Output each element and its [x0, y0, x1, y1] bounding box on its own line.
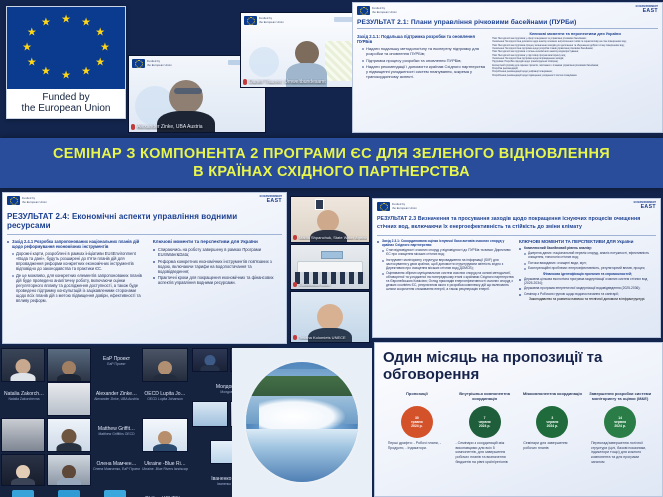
video-feed: [48, 419, 90, 451]
slide-right-heading: КЛЮЧОВІ МОМЕНТИ ТА ПЕРСПЕКТИВИ ДЛЯ Украї…: [519, 239, 656, 244]
timeline-step-4: Завершення розробки системи моніторингу …: [589, 392, 651, 464]
timeline-title: Один місяць на пропозиції та обговорення: [383, 349, 654, 383]
participant-name-1: Natalia Zakorch… Natalia Zakorchevna: [2, 391, 46, 401]
seminar-title-banner: СЕМІНАР З КОМПОНЕНТА 2 ПРОГРАМИ ЄС ДЛЯ З…: [0, 138, 663, 188]
eu-logo-caption-line1: Funded by: [9, 92, 123, 103]
timeline-circle-3: 3 червня 2024 р.: [536, 406, 568, 438]
slide-eu-label: Funded by the European Union: [377, 202, 656, 211]
avatar-tile-2[interactable]: Г: [58, 490, 80, 497]
banner-line-2: В КРАЇНАХ СХІДНОГО ПАРТНЕРСТВА: [193, 164, 470, 180]
slide-left-heading: Захід 2.1.1: Подальша підтримка розробки…: [357, 34, 487, 44]
slide-result-2-3: Funded by the European Union EU4ENVIRONM…: [372, 198, 661, 338]
participant-name-4: OECD Lupita Jo… OECD Lupita Johanson: [142, 391, 188, 401]
video-nameplate: Conference room: [293, 282, 367, 287]
slide-timeline: Один місяць на пропозиції та обговорення…: [374, 342, 663, 497]
eyeglasses: [174, 88, 202, 94]
avatar-tile-3[interactable]: Є: [104, 490, 126, 497]
video-nameplate: Daniel Trauner, Umweltbundesamt: [243, 79, 365, 85]
wall-picture: [315, 199, 324, 210]
video-nameplate: Tetiana Kolomiets UNECE: [293, 335, 367, 340]
timeline-step-3: Міжкомпонентна координація 3 червня 2024…: [521, 392, 583, 450]
eu-flag: ★ ★ ★ ★ ★ ★ ★ ★ ★ ★ ★ ★: [7, 7, 125, 89]
participant-name-5: Matthew Griffit… Matthew Griffiths OECD: [93, 426, 140, 436]
slide-left-bullets: Дорожні карти, розроблені в рамках ініці…: [7, 251, 147, 303]
slide-right-lines: Нові: Методологічна підтримка у сфері пл…: [492, 38, 658, 78]
video-feed: [193, 349, 227, 371]
slide-left-bullets: Стан відповідності очисних споруд у відп…: [377, 248, 514, 291]
timeline-steps: Пропозиції 30 травня 2024 р. Перші драфт…: [383, 392, 654, 464]
slide-right-heading: Ключові моменти та перспективи для Украї…: [492, 31, 658, 36]
video-feed: [143, 349, 187, 381]
slide-title: РЕЗУЛЬТАТ 2.3 Визначення та просування з…: [377, 216, 656, 232]
video-feed: [2, 419, 44, 451]
slide-eu-label: Funded by the European Union: [244, 16, 284, 25]
eu4environment-east-logo: EU4ENVIRONMENT EAST: [260, 196, 282, 204]
video-feed: [193, 402, 227, 426]
video-feed: Funded by the European Union: [241, 13, 367, 87]
slide-right-bullets: Комплексний басейновий рівень аналізу: Д…: [519, 246, 656, 302]
avatar-tile-1[interactable]: Е: [12, 490, 34, 497]
participant-tile-9[interactable]: [47, 454, 91, 486]
participant-tile-12[interactable]: [192, 401, 228, 427]
eu4environment-east-logo: EU4ENVIRONMENT EAST: [634, 202, 656, 210]
timeline-circle-1: 30 травня 2024 р.: [401, 406, 433, 438]
participant-tile-2[interactable]: [47, 348, 91, 382]
timeline-step-2: Внутрішньо компонентна координація 7 чер…: [453, 392, 515, 464]
eu-logo-caption: Funded by the European Union: [7, 89, 125, 118]
mic-muted-icon: [293, 235, 297, 240]
slide-result-2-4: Funded by the European Union EU4ENVIRONM…: [2, 192, 287, 344]
video-nameplate: Mariia Shpanchuk, State Water Agency: [293, 235, 367, 240]
mic-muted-icon: [131, 124, 135, 130]
eu4environment-east-logo: EU4ENVIRONMENT EAST: [636, 6, 658, 14]
video-tile-conference-room[interactable]: Conference room: [290, 244, 370, 290]
webinar-montage-screenshot: ★ ★ ★ ★ ★ ★ ★ ★ ★ ★ ★ ★ Funded by the Eu…: [0, 0, 663, 497]
slide-eu-label: Funded by the European Union: [7, 196, 282, 205]
eu-logo-caption-line2: the European Union: [9, 103, 123, 114]
slide-eu-label: Funded by the European Union: [132, 59, 172, 68]
decor-circle: [249, 47, 279, 77]
timeline-step-1: Пропозиції 30 травня 2024 р. Перші драфт…: [386, 392, 448, 450]
projector-screen: [321, 251, 343, 259]
slide-left-bullets: Надати подальшу методологічну та експерт…: [357, 46, 487, 79]
video-tile-tetiana-kolomiets[interactable]: Tetiana Kolomiets UNECE: [290, 291, 370, 343]
participant-name-7: Олена Мамчен… Олена Мамченко, EaP Проект: [93, 461, 140, 471]
participant-grid: EaP Проект EaP Проект Natalia Zakorch… N…: [0, 346, 190, 497]
participant-name-3: Alexander Zinke… Alexander Zinke, UBA Au…: [93, 391, 140, 401]
video-nameplate: Alexander Zinke, UBA Austria: [131, 124, 263, 130]
participant-name-8: Ukraine -Blue Ri… Ukraine -Blue Rivers l…: [142, 461, 188, 471]
mic-muted-icon: [243, 79, 247, 85]
video-feed: [143, 419, 187, 451]
mic-muted-icon: [293, 335, 297, 340]
water-collage-slide: [232, 348, 372, 497]
video-feed: [48, 455, 90, 485]
eu-stars: ★ ★ ★ ★ ★ ★ ★ ★ ★ ★ ★ ★: [7, 7, 125, 89]
slide-left-heading: Захід 2.3.1: Скоординована оцінка існуюч…: [377, 239, 514, 247]
participant-tile-7[interactable]: [142, 418, 188, 452]
video-tile-daniel-trauner[interactable]: Funded by the European Union Daniel Trau…: [240, 12, 368, 88]
participant-tile-6[interactable]: [47, 418, 91, 452]
video-feed: [48, 383, 90, 415]
video-feed: [2, 349, 44, 381]
mic-muted-icon: [293, 282, 297, 287]
slide-left-heading: Захід 2.4.1 Розробка запропонованих наці…: [7, 239, 147, 249]
slide-eu-label: Funded by the European Union: [357, 6, 658, 15]
video-feed: [48, 349, 90, 381]
participant-tile-3[interactable]: [142, 348, 188, 382]
video-tile-mariia-shpanchuk[interactable]: Mariia Shpanchuk, State Water Agency: [290, 196, 370, 243]
participant-tile-1[interactable]: [1, 348, 45, 382]
video-feed: [2, 455, 44, 485]
banner-line-1: СЕМІНАР З КОМПОНЕНТА 2 ПРОГРАМИ ЄС ДЛЯ З…: [53, 146, 610, 162]
eu-funded-logo: ★ ★ ★ ★ ★ ★ ★ ★ ★ ★ ★ ★ Funded by the Eu…: [6, 6, 126, 119]
participant-tile-10[interactable]: [192, 348, 228, 372]
participant-name-2: EaP Проект EaP Проект: [93, 356, 140, 366]
water-collage-image: [246, 362, 358, 482]
participant-tile-4[interactable]: [47, 382, 91, 416]
slide-right-bullets: Спираючись на роботу завершену в рамках …: [153, 247, 282, 285]
slide-result-2-1: Funded by the European Union EU4ENVIRONM…: [352, 2, 663, 133]
timeline-circle-2: 7 червня 2024 р.: [469, 406, 501, 438]
participant-tile-5[interactable]: [1, 418, 45, 452]
timeline-circle-4: 14 червня 2024 р.: [604, 406, 636, 438]
slide-title: РЕЗУЛЬТАТ 2.1: Плани управління річковим…: [357, 19, 658, 26]
slide-right-heading: Ключові моменти та перспективи для Украї…: [153, 239, 282, 244]
participant-tile-8[interactable]: [1, 454, 45, 486]
slide-title: РЕЗУЛЬТАТ 2.4: Економічні аспекти управл…: [7, 212, 282, 230]
